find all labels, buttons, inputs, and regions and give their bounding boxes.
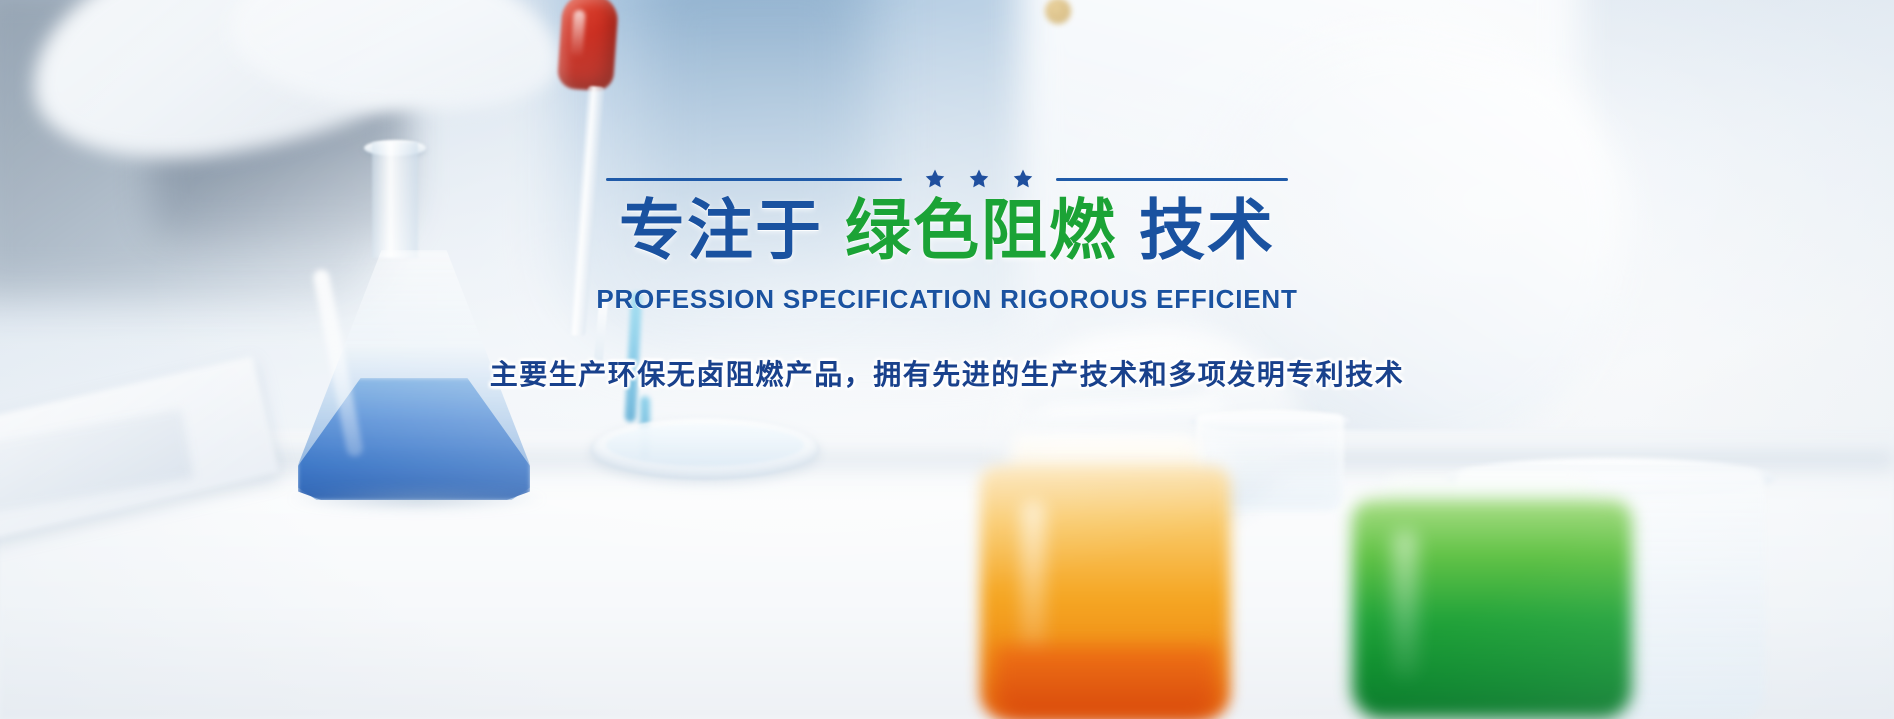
hero-banner: 专注于绿色阻燃技术 PROFESSION SPECIFICATION RIGOR… — [0, 0, 1894, 719]
banner-subtitle: PROFESSION SPECIFICATION RIGOROUS EFFICI… — [596, 284, 1297, 315]
banner-tagline: 主要生产环保无卤阻燃产品，拥有先进的生产技术和多项发明专利技术 — [490, 353, 1405, 393]
divider-line-left — [606, 178, 902, 181]
decorative-divider — [617, 168, 1277, 190]
star-icon — [1012, 168, 1034, 190]
banner-headline: 专注于绿色阻燃技术 — [619, 196, 1275, 266]
star-icon — [968, 168, 990, 190]
banner-content: 专注于绿色阻燃技术 PROFESSION SPECIFICATION RIGOR… — [0, 0, 1894, 719]
star-group — [902, 168, 1056, 190]
star-icon — [924, 168, 946, 190]
headline-part-one: 专注于 — [619, 193, 823, 267]
divider-line-right — [1056, 178, 1288, 181]
headline-part-two: 绿色阻燃 — [845, 193, 1117, 267]
headline-part-three: 技术 — [1139, 193, 1275, 267]
